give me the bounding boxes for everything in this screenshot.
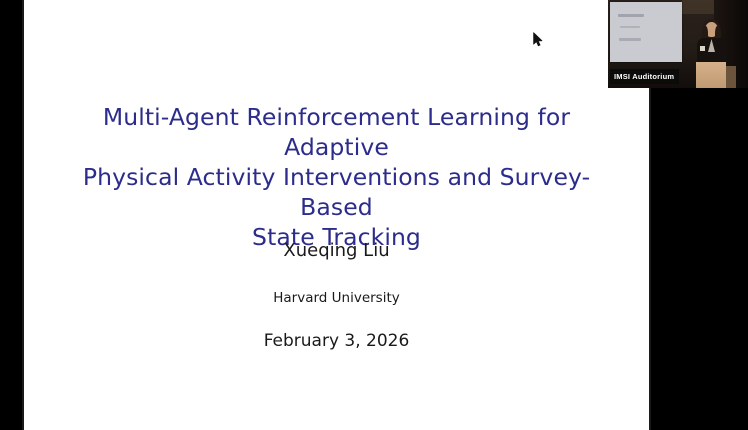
slide-author: Xueqing Liu [54,240,619,262]
screen-share-view: Multi-Agent Reinforcement Learning for A… [0,0,748,430]
slide-date: February 3, 2026 [54,330,619,352]
shared-slide[interactable]: Multi-Agent Reinforcement Learning for A… [22,0,651,430]
slide-title: Multi-Agent Reinforcement Learning for A… [54,102,619,252]
projected-affiliation-line [620,26,640,28]
podium-icon [696,62,726,88]
slide-content: Multi-Agent Reinforcement Learning for A… [24,0,649,430]
projected-title-line [618,14,644,17]
projected-date-line [619,38,641,41]
participant-name-label: IMSI Auditorium [610,69,679,84]
podium-side-icon [726,66,736,88]
speaker-name-badge-icon [700,46,705,51]
participant-video-tile[interactable]: IMSI Auditorium [608,0,748,88]
slide-affiliation: Harvard University [54,289,619,307]
projection-screen [610,2,682,62]
